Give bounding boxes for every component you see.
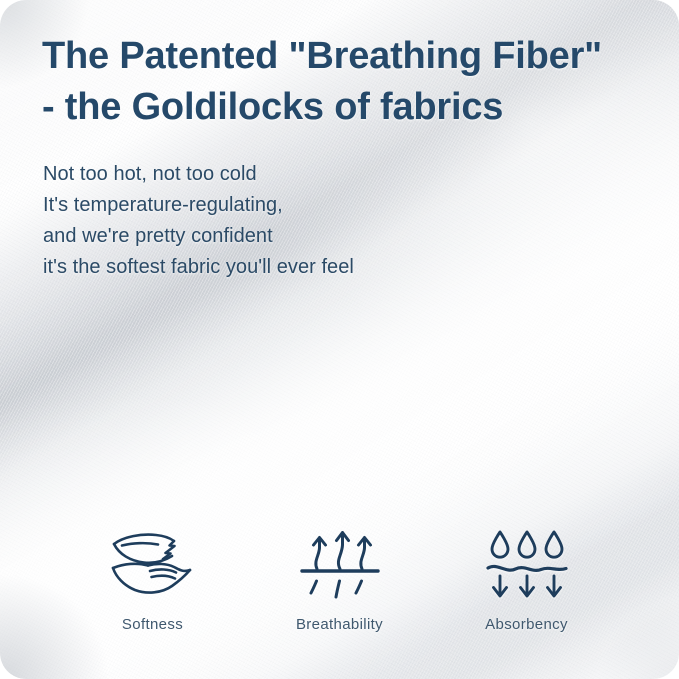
feature-label-softness: Softness	[122, 616, 183, 634]
feather-on-hand-icon	[110, 528, 196, 602]
product-feature-banner: The Patented "Breathing Fiber" - the Gol…	[0, 0, 679, 679]
feature-list: Softness	[60, 528, 619, 634]
banner-subcopy: Not too hot, not too cold It's temperatu…	[43, 159, 657, 283]
rising-airflow-arrows-icon	[300, 528, 380, 602]
feature-softness: Softness	[60, 528, 245, 634]
page-title: The Patented "Breathing Fiber" - the Gol…	[42, 31, 657, 133]
feature-label-absorbency: Absorbency	[485, 616, 568, 634]
banner-copy-block: The Patented "Breathing Fiber" - the Gol…	[42, 31, 657, 283]
water-droplets-absorbing-icon	[486, 528, 568, 602]
feature-breathability: Breathability	[247, 528, 432, 634]
feature-absorbency: Absorbency	[434, 528, 619, 634]
feature-label-breathability: Breathability	[296, 616, 383, 634]
